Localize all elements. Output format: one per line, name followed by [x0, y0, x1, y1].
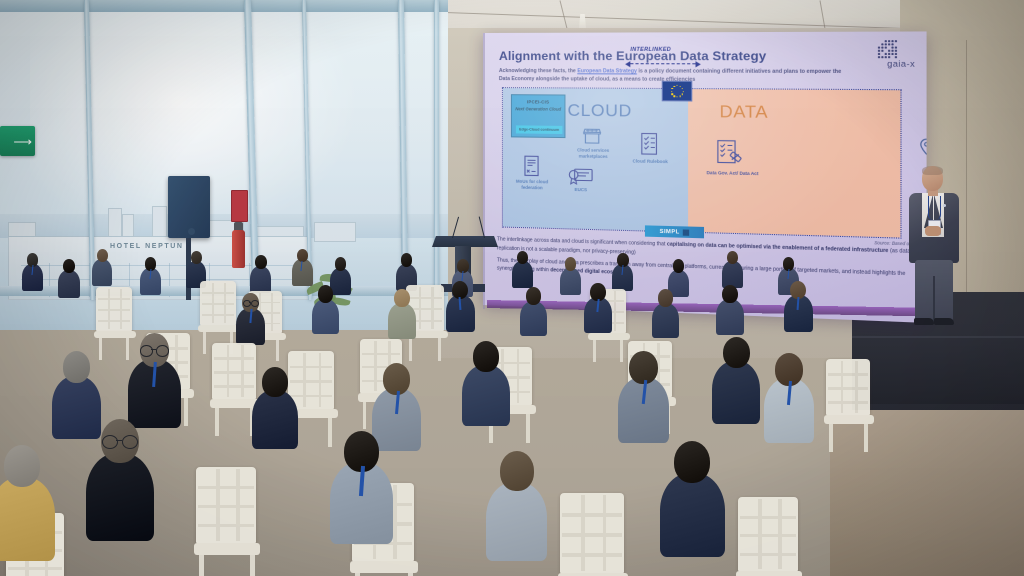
chair-leg: [363, 402, 366, 429]
eucs-label: EUCS: [565, 187, 596, 193]
presenter-shoe: [914, 318, 934, 325]
audience-member-torso: [486, 482, 547, 561]
marketplace-shop-icon: [582, 127, 603, 146]
eyeglasses-bridge: [151, 349, 156, 350]
chair-spindle: [241, 345, 244, 397]
audience-member-torso: [312, 299, 339, 334]
cloud-panel: CLOUD IPCEI-CIS Next Generation Cloud Ed…: [503, 88, 688, 232]
gaia-x-logo: gaia-x: [887, 59, 915, 69]
chair-slat: [740, 553, 796, 556]
audience-member-head: [255, 255, 267, 269]
chair-seat: [194, 543, 260, 555]
chair-spindle: [758, 499, 762, 569]
chair-leg: [199, 555, 204, 576]
edge-cloud-continuum-badge: Edge-Cloud continuum: [516, 125, 562, 134]
chair-spindle: [603, 495, 607, 571]
audience-member-head: [262, 367, 288, 397]
chair-leg: [864, 424, 868, 452]
chair-leg: [829, 424, 833, 452]
audience-member-torso: [652, 303, 679, 338]
checklist-document-icon: [640, 132, 659, 156]
hotel-sign-text: HOTEL NEPTUN: [110, 243, 184, 250]
ipcei-subtitle: Next Generation Cloud: [512, 106, 565, 112]
chair-slat: [214, 385, 254, 388]
audience-member-head: [517, 251, 529, 264]
eyeglasses-bridge: [116, 440, 122, 441]
chair-seat: [736, 571, 802, 576]
eyeglasses-icon: [122, 435, 138, 449]
audience-member-head: [500, 451, 534, 491]
chair-leg: [593, 340, 596, 362]
chair-spindle: [778, 499, 782, 569]
chair-slat: [740, 534, 796, 537]
chair-slat: [828, 401, 868, 404]
audience-member-torso: [252, 390, 298, 449]
fire-extinguisher-sign-icon: [231, 190, 248, 222]
eyeglasses-icon: [156, 345, 169, 356]
chair-spindle: [319, 353, 322, 407]
chair-leg: [438, 338, 441, 361]
chair-leg: [276, 340, 279, 361]
chair-seat: [824, 415, 874, 424]
eu-flag-icon: [662, 81, 693, 102]
chair-leg: [203, 332, 206, 354]
data-panel: DATA Data Gov. Act/ Data Act: [688, 89, 901, 237]
presenter: [898, 166, 968, 326]
exit-arrow-icon: ⟶: [13, 135, 32, 148]
chair-seat: [94, 331, 136, 338]
audience-member-torso: [712, 361, 760, 423]
audience-member-head: [318, 285, 333, 303]
gavel-checklist-icon: [715, 139, 747, 169]
chair-slat: [202, 303, 234, 305]
conference-room-photo: HOTEL NEPTUN ⟶: [0, 0, 1024, 576]
chair-slat: [98, 309, 130, 311]
chair-slat: [98, 320, 130, 322]
chair-leg: [409, 338, 412, 361]
chair-spindle: [841, 361, 844, 413]
presenter-lanyard: [928, 196, 941, 220]
data-act-label: Data Gov. Act/ Data Act: [702, 170, 762, 177]
audience-member-head: [63, 259, 75, 273]
audience-member-head: [673, 259, 685, 273]
chair-spindle: [581, 495, 585, 571]
chair-spindle: [120, 289, 122, 329]
audience-member-torso: [250, 266, 271, 294]
chair-leg: [620, 340, 623, 362]
chair-spindle: [431, 287, 433, 329]
audience-member-torso: [0, 477, 55, 561]
audience-member-head: [335, 257, 347, 271]
chair-slat: [198, 486, 254, 489]
chair-leg: [99, 338, 102, 360]
chair-slat: [362, 353, 400, 355]
chair-slat: [8, 567, 62, 570]
presenter-hands: [925, 226, 941, 236]
chair-spindle: [374, 341, 377, 391]
chair-leg: [250, 555, 255, 576]
chair-slat: [828, 373, 868, 376]
chair-slat: [740, 516, 796, 519]
cloud-rulebook-label: Cloud Rulebook: [625, 158, 675, 165]
chair-slat: [562, 513, 622, 517]
audience-member-torso: [86, 453, 154, 541]
audience: [0, 255, 900, 576]
audience-member-torso: [92, 259, 112, 285]
chair-spindle: [224, 283, 226, 323]
eyeglasses-icon: [140, 345, 153, 356]
chair-slat: [828, 387, 868, 390]
window-frame-top: [0, 0, 448, 12]
chair-spindle: [303, 353, 306, 407]
interlinked-label: INTERLINKED: [630, 47, 671, 53]
audience-member-torso: [52, 376, 101, 440]
chair-leg: [126, 338, 129, 360]
chair-spindle: [216, 469, 220, 541]
simpl-badge: SIMPL: [645, 225, 704, 238]
audience-member-head: [4, 445, 40, 487]
audience-member-torso: [462, 365, 510, 427]
presenter-shoe: [934, 318, 954, 325]
audience-member-head: [674, 441, 710, 483]
audience-member-head: [63, 351, 91, 383]
chair-spindle: [517, 349, 520, 403]
mous-cloud-federation-label: MoUs for cloud federation: [509, 179, 555, 191]
eyeglasses-icon: [243, 300, 251, 307]
cloud-data-diagram: CLOUD IPCEI-CIS Next Generation Cloud Ed…: [502, 87, 902, 239]
slide-subtitle-pre: Acknowledging these facts, the: [499, 68, 577, 74]
chair-slat: [202, 314, 234, 316]
chair-slat: [408, 297, 442, 299]
location-pin-icon: [918, 137, 927, 155]
audience-member-head: [565, 257, 577, 271]
chair-slat: [562, 553, 622, 557]
chair-spindle: [212, 283, 214, 323]
chair-seat: [198, 325, 240, 332]
presenter-lapel-pin: [943, 204, 946, 207]
data-act-label-text: Data Gov. Act/ Data Act: [706, 170, 758, 176]
certificate-seal-icon: [568, 168, 595, 188]
audience-member-torso: [722, 261, 743, 288]
chair-slat: [290, 395, 332, 398]
chair-spindle: [614, 291, 616, 331]
chair-slat: [98, 298, 130, 300]
exit-sign: ⟶: [0, 126, 35, 156]
audience-member-torso: [512, 261, 533, 288]
audience-member-torso: [520, 301, 547, 336]
pa-speaker-driver: [188, 228, 195, 235]
chair-spindle: [393, 485, 397, 559]
chair-slat: [290, 366, 332, 369]
gaia-x-dot-grid-icon: [878, 40, 916, 59]
chair-spindle: [108, 289, 110, 329]
audience-member-torso: [660, 473, 725, 557]
chair-slat: [214, 371, 254, 374]
slide-subtitle-link: European Data Strategy: [577, 68, 637, 74]
audience-member-torso: [330, 268, 351, 295]
data-heading: DATA: [720, 102, 769, 123]
audience-member-head: [97, 249, 108, 262]
audience-member-head: [526, 287, 541, 305]
chair-slat: [198, 524, 254, 527]
interlinked-arrow-icon: [625, 59, 701, 68]
audience-member-head: [401, 253, 413, 267]
audience-member-head: [473, 341, 500, 372]
cloud-marketplaces-label: Cloud services marketplaces: [568, 147, 619, 159]
audience-member-head: [191, 251, 202, 264]
chair-slat: [198, 505, 254, 508]
chair-spindle: [271, 293, 273, 331]
chair-leg: [526, 414, 530, 443]
audience-member-head: [658, 289, 673, 307]
audience-member-head: [394, 289, 410, 307]
chair-leg: [184, 398, 188, 426]
simpl-label: SIMPL: [660, 228, 680, 235]
audience-member-torso: [560, 268, 581, 295]
chair-seat: [588, 333, 630, 340]
room: HOTEL NEPTUN ⟶: [0, 0, 1024, 576]
simpl-square-icon: [683, 229, 689, 235]
chair-leg: [328, 418, 332, 447]
eyeglasses-bridge: [249, 302, 252, 303]
eyeglasses-icon: [102, 435, 118, 449]
chair-seat: [350, 561, 418, 573]
audience-member-torso: [388, 303, 416, 339]
chair-spindle: [855, 361, 858, 413]
audience-member-torso: [716, 299, 744, 335]
chair-slat: [202, 292, 234, 294]
document-icon: [523, 155, 540, 177]
chair-leg: [215, 408, 219, 436]
chair-slat: [214, 357, 254, 360]
chair-slat: [290, 380, 332, 383]
ipcei-title: IPCEI-CIS: [512, 99, 565, 104]
audience-member-head: [722, 285, 738, 303]
audience-member-head: [723, 337, 750, 368]
chair-spindle: [227, 345, 230, 397]
audience-member-head: [727, 251, 739, 264]
chair-spindle: [236, 469, 240, 541]
chair-slat: [562, 533, 622, 537]
cloud-heading: CLOUD: [568, 101, 632, 122]
presenter-hair: [922, 166, 943, 175]
chair-spindle: [419, 287, 421, 329]
ipcei-cis-box: IPCEI-CIS Next Generation Cloud Edge-Clo…: [511, 94, 566, 138]
audience-member-torso: [58, 270, 80, 298]
